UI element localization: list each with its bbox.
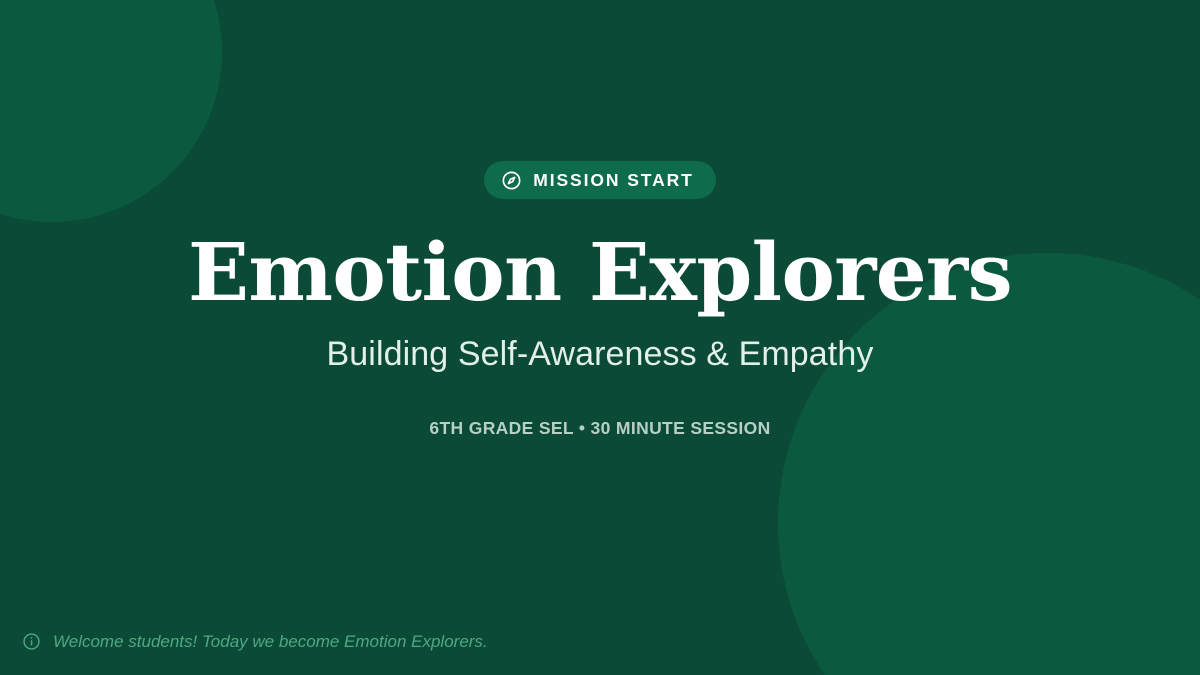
slide-canvas: MISSION START Emotion Explorers Building… — [0, 0, 1200, 675]
slide-meta: 6TH GRADE SEL • 30 MINUTE SESSION — [429, 418, 770, 439]
mission-start-badge-label: MISSION START — [533, 172, 694, 190]
footer-note: Welcome students! Today we become Emotio… — [22, 632, 488, 651]
footer-note-text: Welcome students! Today we become Emotio… — [53, 633, 488, 650]
slide-subtitle: Building Self-Awareness & Empathy — [327, 334, 874, 375]
info-circle-icon — [22, 632, 41, 651]
slide-title: Emotion Explorers — [188, 232, 1012, 314]
mission-start-badge[interactable]: MISSION START — [484, 161, 716, 199]
compass-icon — [501, 170, 522, 191]
slide-content: MISSION START Emotion Explorers Building… — [0, 0, 1200, 600]
